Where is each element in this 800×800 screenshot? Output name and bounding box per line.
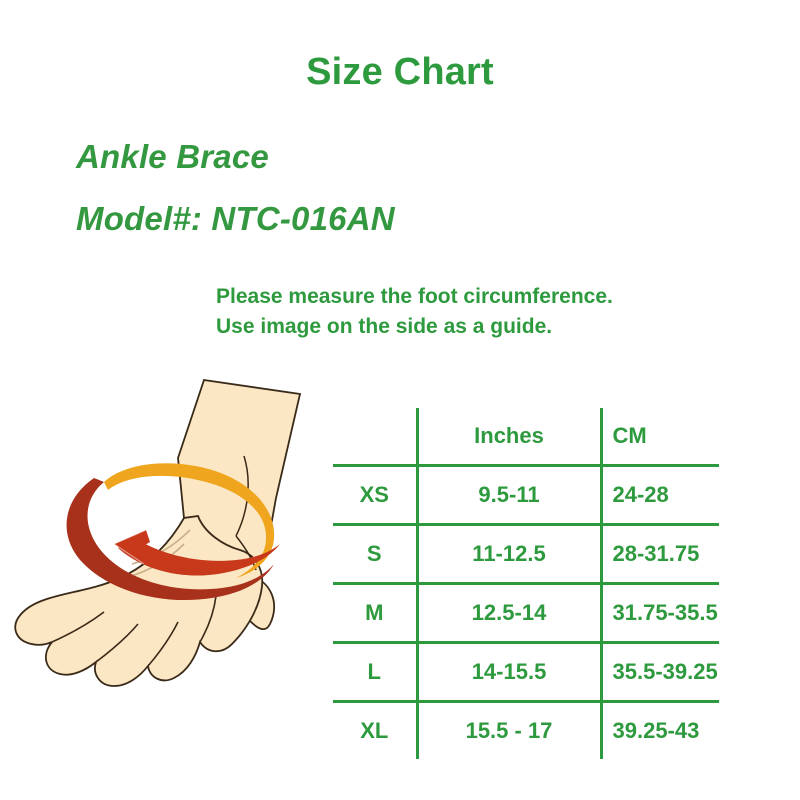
instruction-line-1: Please measure the foot circumference. bbox=[216, 282, 613, 312]
row-inches-value: 12.5-14 bbox=[417, 584, 601, 643]
table-row: S 11-12.5 28-31.75 bbox=[333, 525, 719, 584]
foot-shapes bbox=[15, 380, 300, 686]
table-row: L 14-15.5 35.5-39.25 bbox=[333, 643, 719, 702]
row-cm-value: 31.75-35.5 bbox=[601, 584, 719, 643]
row-size-label: S bbox=[333, 525, 417, 584]
foot-illustration-svg bbox=[8, 378, 324, 710]
table-row: M 12.5-14 31.75-35.5 bbox=[333, 584, 719, 643]
row-inches-value: 14-15.5 bbox=[417, 643, 601, 702]
row-size-label: L bbox=[333, 643, 417, 702]
row-inches-value: 15.5 - 17 bbox=[417, 702, 601, 760]
size-table-container: Inches CM XS 9.5-11 24-28 S 11-12.5 28-3… bbox=[333, 408, 719, 760]
row-size-label: XS bbox=[333, 466, 417, 525]
row-inches-value: 11-12.5 bbox=[417, 525, 601, 584]
row-cm-value: 28-31.75 bbox=[601, 525, 719, 584]
size-table-body: XS 9.5-11 24-28 S 11-12.5 28-31.75 M 12.… bbox=[333, 466, 719, 760]
measurement-instructions: Please measure the foot circumference. U… bbox=[216, 282, 613, 342]
size-chart-page: Size Chart Ankle Brace Model#: NTC-016AN… bbox=[0, 0, 800, 800]
row-cm-value: 35.5-39.25 bbox=[601, 643, 719, 702]
size-table-head: Inches CM bbox=[333, 408, 719, 466]
table-header-row: Inches CM bbox=[333, 408, 719, 466]
product-name: Ankle Brace bbox=[76, 138, 269, 176]
foot-ankle-measure-illustration bbox=[8, 378, 324, 710]
table-row: XL 15.5 - 17 39.25-43 bbox=[333, 702, 719, 760]
instruction-line-2: Use image on the side as a guide. bbox=[216, 312, 613, 342]
row-cm-value: 24-28 bbox=[601, 466, 719, 525]
size-table: Inches CM XS 9.5-11 24-28 S 11-12.5 28-3… bbox=[333, 408, 719, 759]
row-cm-value: 39.25-43 bbox=[601, 702, 719, 760]
table-row: XS 9.5-11 24-28 bbox=[333, 466, 719, 525]
row-inches-value: 9.5-11 bbox=[417, 466, 601, 525]
column-header-size bbox=[333, 408, 417, 466]
row-size-label: M bbox=[333, 584, 417, 643]
model-number: Model#: NTC-016AN bbox=[76, 200, 395, 238]
page-title: Size Chart bbox=[0, 52, 800, 94]
column-header-inches: Inches bbox=[417, 408, 601, 466]
row-size-label: XL bbox=[333, 702, 417, 760]
column-header-cm: CM bbox=[601, 408, 719, 466]
